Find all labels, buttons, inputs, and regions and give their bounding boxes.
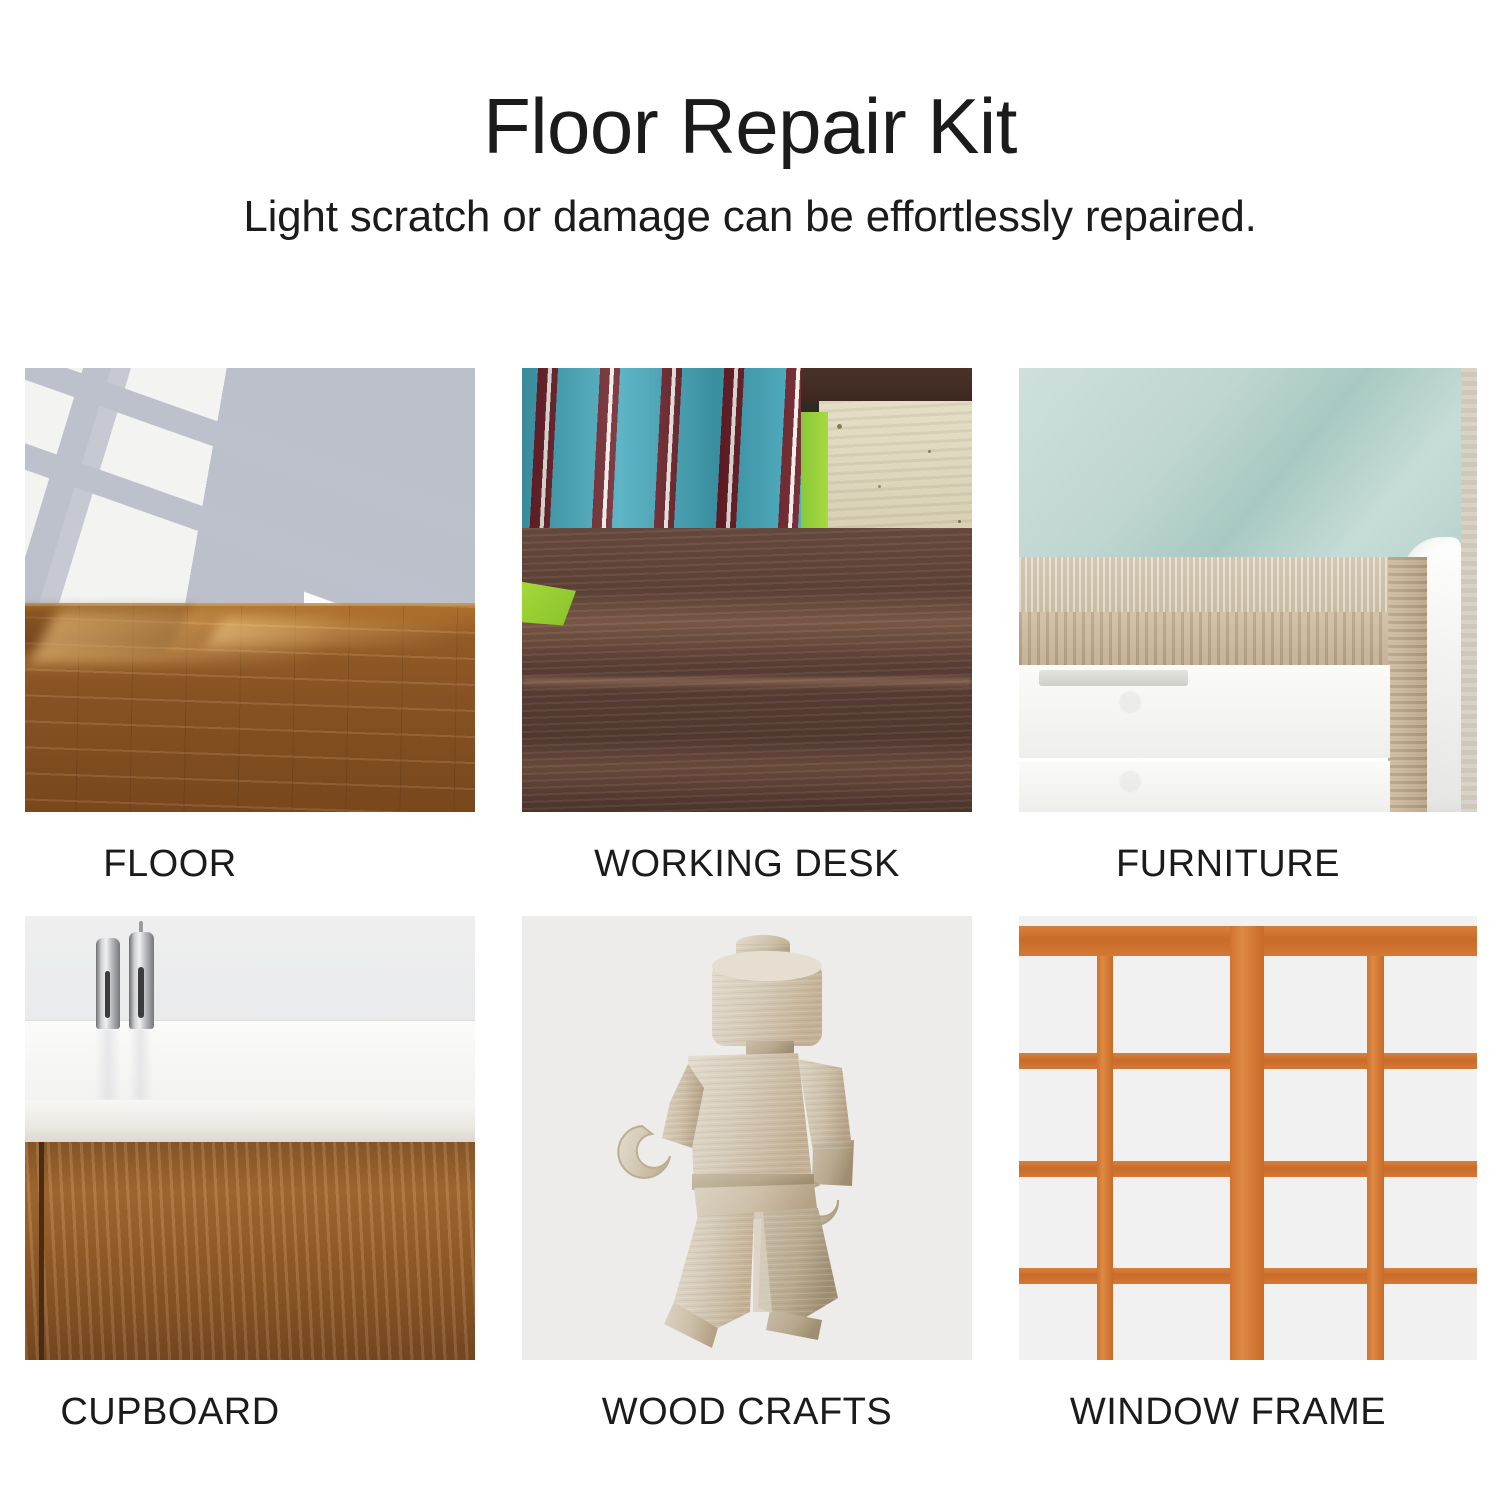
gallery-caption-floor: FLOOR xyxy=(25,812,475,916)
hardwood-floor-surface xyxy=(25,606,475,812)
grinder-reflection-2 xyxy=(129,1029,153,1100)
gallery-caption-working-desk: WORKING DESK xyxy=(522,812,972,916)
wooden-minifigure-illustration xyxy=(522,916,972,1360)
gallery-item-window-frame[interactable]: WINDOW FRAME xyxy=(1019,916,1477,1464)
floor-image xyxy=(25,368,475,812)
gallery-caption-cupboard: CUPBOARD xyxy=(25,1360,475,1464)
feature-gallery-grid: FLOOR WORKING DESK xyxy=(25,368,1478,1464)
window-center-mullion-overlay xyxy=(1230,926,1264,1360)
cupboard-door-seam xyxy=(39,1142,44,1360)
pepper-grinder xyxy=(129,932,154,1029)
wood-crafts-image xyxy=(522,916,972,1360)
header: Floor Repair Kit Light scratch or damage… xyxy=(0,0,1500,242)
grinder-slot xyxy=(105,971,110,1018)
drawer-pull-handle xyxy=(1039,670,1187,686)
desk-back-panel xyxy=(819,401,972,528)
grinder-reflection-1 xyxy=(96,1029,120,1100)
desk-top-rail xyxy=(783,368,972,404)
product-infographic-page: Floor Repair Kit Light scratch or damage… xyxy=(0,0,1500,1500)
curtain-shading xyxy=(522,368,801,528)
gallery-item-working-desk[interactable]: WORKING DESK xyxy=(522,368,972,916)
gallery-caption-window-frame: WINDOW FRAME xyxy=(1019,1360,1477,1464)
window-muntin-v2 xyxy=(1367,956,1383,1360)
window-frame-image xyxy=(1019,916,1477,1360)
gallery-item-furniture[interactable]: FURNITURE xyxy=(1019,368,1477,916)
desk-surface xyxy=(522,528,972,812)
window-grid xyxy=(1019,916,1477,1360)
mint-wall xyxy=(1019,368,1463,559)
striped-curtain xyxy=(522,368,801,528)
working-desk-image xyxy=(522,368,972,812)
furniture-image xyxy=(1019,368,1477,812)
page-title: Floor Repair Kit xyxy=(0,86,1500,168)
grinder-slot xyxy=(138,967,144,1018)
salt-grinder xyxy=(96,938,120,1029)
desk-highlight xyxy=(522,678,972,689)
floor-sunbeam-2 xyxy=(206,618,470,647)
gallery-item-cupboard[interactable]: CUPBOARD xyxy=(25,916,475,1464)
gallery-caption-furniture: FURNITURE xyxy=(1019,812,1477,916)
gallery-item-wood-crafts[interactable]: WOOD CRAFTS xyxy=(522,916,972,1464)
window-muntin-v1 xyxy=(1097,956,1113,1360)
gallery-item-floor[interactable]: FLOOR xyxy=(25,368,475,916)
gallery-caption-wood-crafts: WOOD CRAFTS xyxy=(522,1360,972,1464)
grinder-knob xyxy=(139,921,143,932)
nightstand-edge xyxy=(1019,612,1427,665)
cupboard-image xyxy=(25,916,475,1360)
nightstand-drawer-lower xyxy=(1019,761,1390,812)
nightstand-top xyxy=(1019,557,1427,615)
wall-trim xyxy=(1461,368,1477,812)
kitchen-countertop xyxy=(25,1100,475,1142)
nightstand-side-panel xyxy=(1388,557,1427,812)
kitchen-wall xyxy=(25,916,475,1023)
cupboard-door-panel xyxy=(25,1142,475,1360)
nightstand-drawer-upper xyxy=(1019,665,1390,758)
kitchen-backsplash xyxy=(25,1020,475,1102)
page-subtitle: Light scratch or damage can be effortles… xyxy=(0,192,1500,242)
